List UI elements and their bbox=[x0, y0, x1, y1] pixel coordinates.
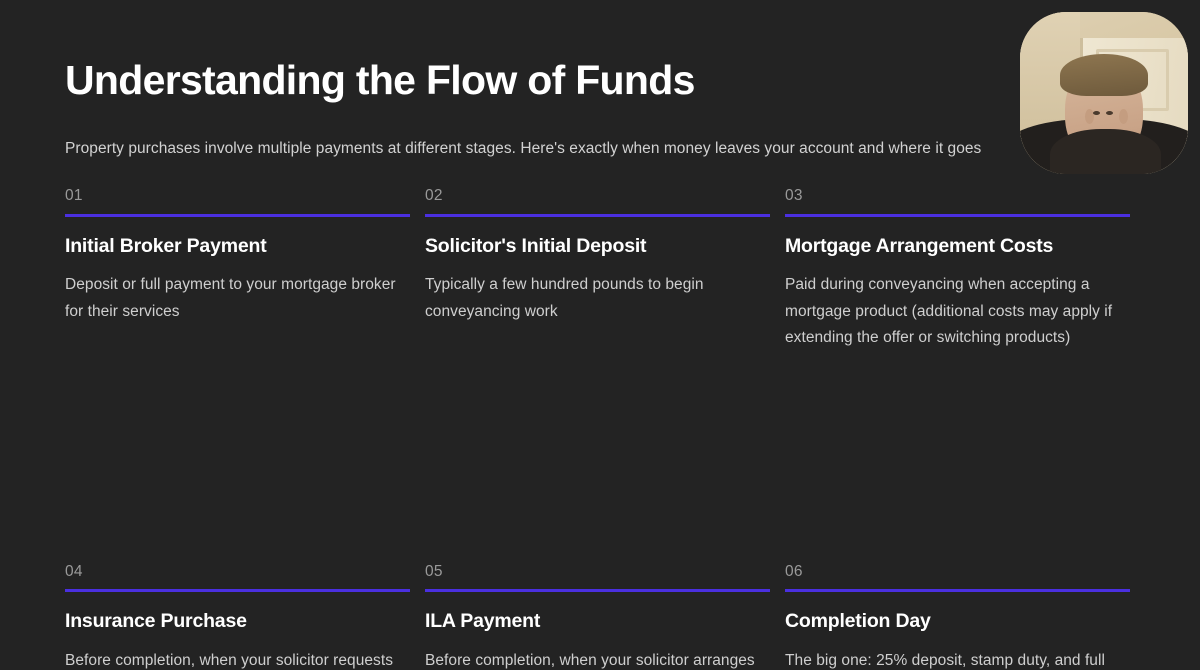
step-number: 01 bbox=[65, 188, 410, 204]
slide-header: Understanding the Flow of Funds Property… bbox=[65, 58, 1130, 160]
step-description: The big one: 25% deposit, stamp duty, an… bbox=[785, 648, 1130, 670]
step-accent-rule bbox=[65, 214, 410, 217]
step-number: 02 bbox=[425, 188, 770, 204]
step-accent-rule bbox=[785, 214, 1130, 217]
page-title: Understanding the Flow of Funds bbox=[65, 58, 1130, 104]
step-accent-rule bbox=[65, 589, 410, 592]
step-description: Typically a few hundred pounds to begin … bbox=[425, 272, 770, 325]
presenter-webcam[interactable] bbox=[1020, 12, 1188, 174]
step-title: Solicitor's Initial Deposit bbox=[425, 235, 770, 258]
webcam-ear-left bbox=[1085, 109, 1094, 124]
step-title: Initial Broker Payment bbox=[65, 235, 410, 258]
step-card-01: 01 Initial Broker Payment Deposit or ful… bbox=[65, 188, 410, 352]
step-number: 03 bbox=[785, 188, 1130, 204]
slide-subtitle: Property purchases involve multiple paym… bbox=[65, 138, 1130, 160]
webcam-presenter-hair bbox=[1060, 54, 1147, 96]
steps-grid: 01 Initial Broker Payment Deposit or ful… bbox=[65, 188, 1130, 670]
webcam-eye-left bbox=[1093, 111, 1100, 115]
webcam-eye-right bbox=[1106, 111, 1113, 115]
webcam-ear-right bbox=[1119, 109, 1128, 124]
step-description: Paid during conveyancing when accepting … bbox=[785, 272, 1130, 352]
step-title: ILA Payment bbox=[425, 610, 770, 633]
step-number: 06 bbox=[785, 564, 1130, 580]
step-card-02: 02 Solicitor's Initial Deposit Typically… bbox=[425, 188, 770, 352]
step-accent-rule bbox=[425, 589, 770, 592]
step-number: 05 bbox=[425, 564, 770, 580]
step-title: Mortgage Arrangement Costs bbox=[785, 235, 1130, 258]
step-accent-rule bbox=[425, 214, 770, 217]
webcam-presenter-body bbox=[1050, 129, 1161, 174]
step-title: Insurance Purchase bbox=[65, 610, 410, 633]
presentation-slide: Understanding the Flow of Funds Property… bbox=[0, 0, 1200, 670]
step-card-04: 04 Insurance Purchase Before completion,… bbox=[65, 352, 410, 670]
step-accent-rule bbox=[785, 589, 1130, 592]
step-description: Before completion, when your solicitor a… bbox=[425, 648, 770, 670]
step-card-05: 05 ILA Payment Before completion, when y… bbox=[425, 352, 770, 670]
step-description: Before completion, when your solicitor r… bbox=[65, 648, 410, 670]
step-title: Completion Day bbox=[785, 610, 1130, 633]
step-card-03: 03 Mortgage Arrangement Costs Paid durin… bbox=[785, 188, 1130, 352]
step-card-06: 06 Completion Day The big one: 25% depos… bbox=[785, 352, 1130, 670]
step-number: 04 bbox=[65, 564, 410, 580]
step-description: Deposit or full payment to your mortgage… bbox=[65, 272, 410, 325]
